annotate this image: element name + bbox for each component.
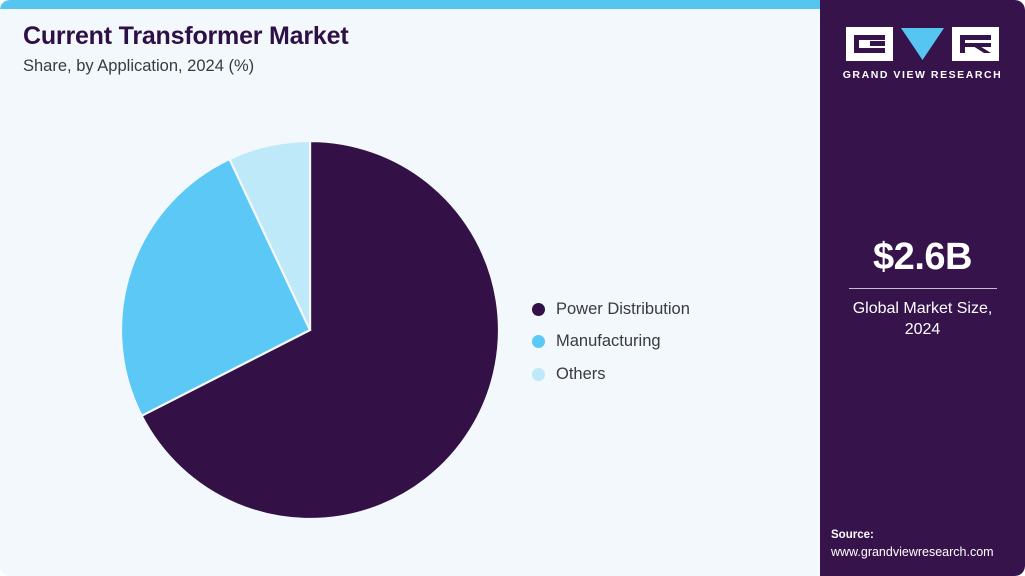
side-panel: GRAND VIEW RESEARCH $2.6B Global Market …	[820, 0, 1025, 576]
chart-area: Current Transformer Market Share, by App…	[0, 9, 820, 576]
brand-logo: GRAND VIEW RESEARCH	[820, 27, 1025, 81]
legend-label-manufacturing: Manufacturing	[556, 332, 661, 351]
logo-letter-v-triangle-icon	[899, 27, 946, 66]
stat-value: $2.6B	[820, 238, 1025, 278]
page-subtitle: Share, by Application, 2024 (%)	[23, 57, 348, 76]
pie-chart-svg	[120, 140, 500, 520]
legend-swatch-icon-others	[532, 368, 545, 381]
page-title: Current Transformer Market	[23, 22, 348, 51]
legend-item-manufacturing[interactable]: Manufacturing	[532, 326, 782, 359]
logo-letter-r-icon	[952, 27, 999, 66]
source-label: Source:	[831, 527, 994, 544]
logo-letter-g-icon	[846, 27, 893, 66]
stat-caption: Global Market Size, 2024	[820, 298, 1025, 341]
legend-swatch-icon-power-distribution	[532, 303, 545, 316]
legend-item-power-distribution[interactable]: Power Distribution	[532, 293, 782, 326]
pie-chart	[120, 140, 500, 520]
stat-divider	[849, 288, 997, 289]
chart-legend: Power Distribution Manufacturing Others	[532, 293, 782, 391]
chart-card: Current Transformer Market Share, by App…	[0, 0, 1025, 576]
pie-slice-group	[121, 141, 499, 519]
source-url[interactable]: www.grandviewresearch.com	[831, 544, 994, 561]
title-block: Current Transformer Market Share, by App…	[23, 22, 348, 76]
logo-marks	[820, 27, 1025, 61]
stat-block: $2.6B Global Market Size, 2024	[820, 238, 1025, 341]
legend-label-power-distribution: Power Distribution	[556, 300, 690, 319]
source-block: Source: www.grandviewresearch.com	[831, 527, 994, 561]
top-accent-bar	[0, 0, 825, 9]
legend-item-others[interactable]: Others	[532, 358, 782, 391]
legend-swatch-icon-manufacturing	[532, 335, 545, 348]
logo-wordmark: GRAND VIEW RESEARCH	[820, 69, 1025, 81]
legend-label-others: Others	[556, 365, 606, 384]
